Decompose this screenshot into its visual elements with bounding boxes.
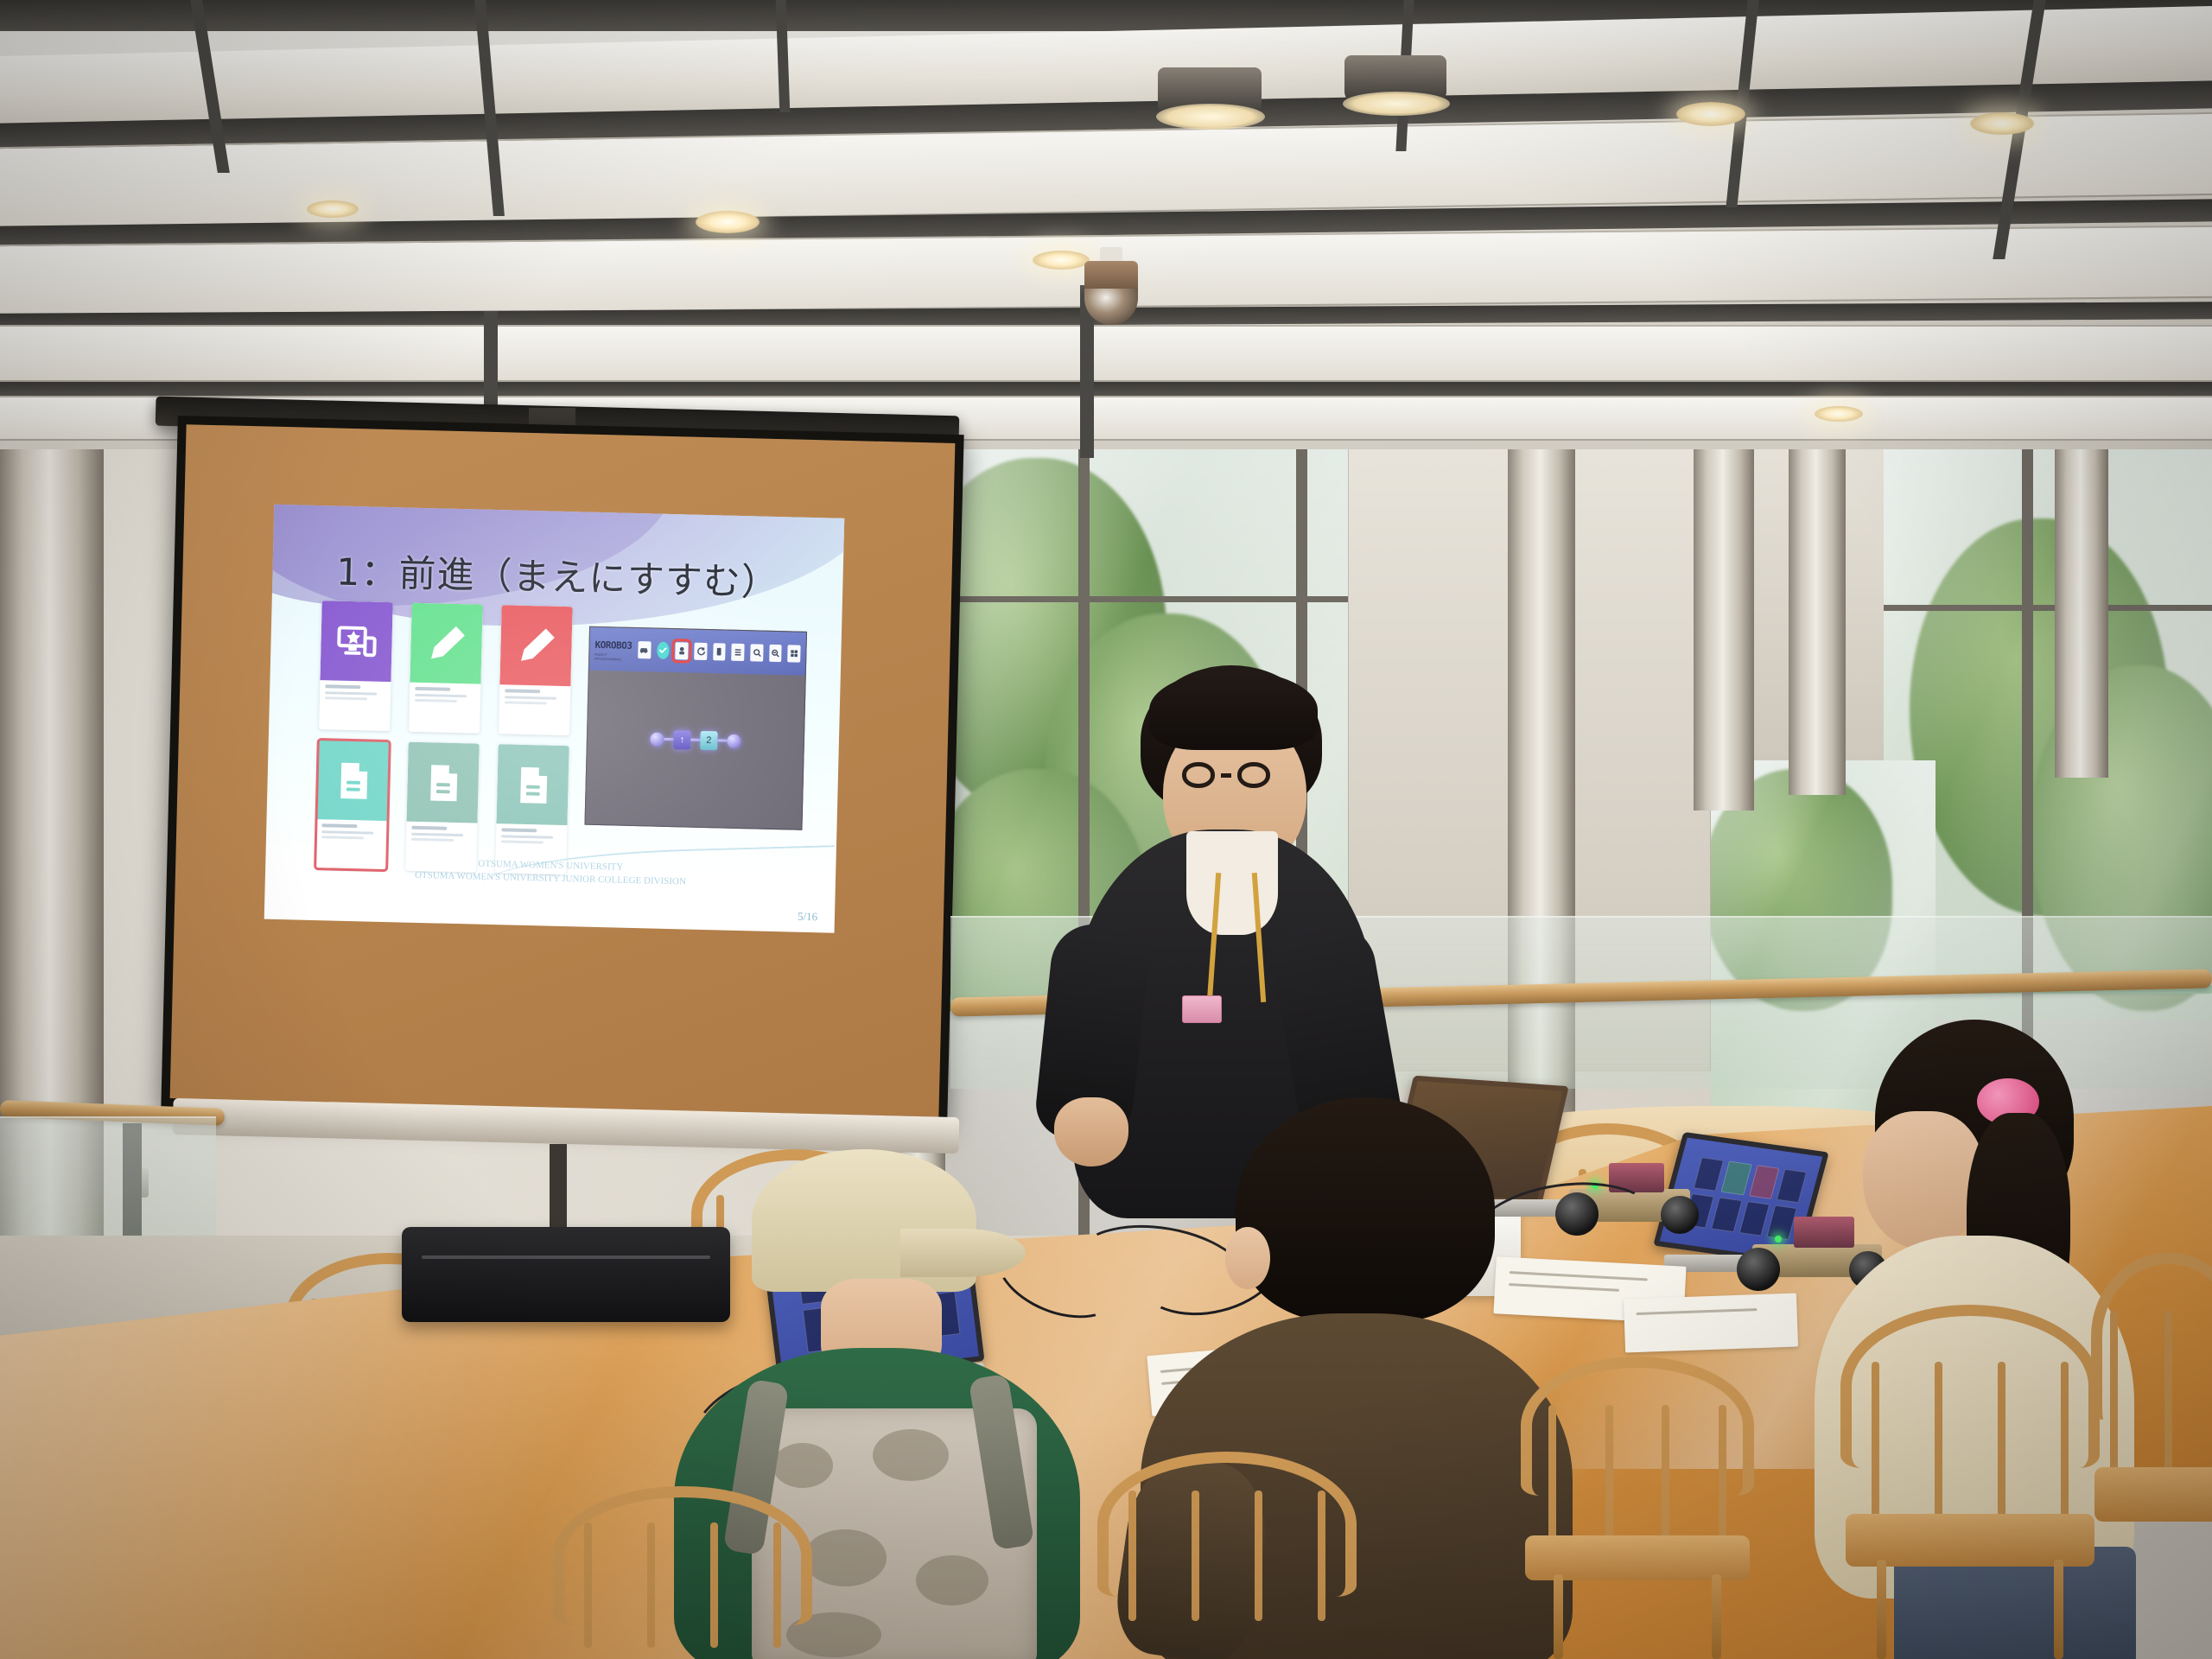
- program-flow-diagram[interactable]: ↑ 2: [650, 729, 741, 751]
- grid-icon[interactable]: [788, 645, 801, 662]
- document-icon: [510, 760, 555, 810]
- downlight: [1815, 406, 1863, 422]
- cap-brim: [900, 1229, 1027, 1277]
- window-mullion: [1884, 605, 2212, 611]
- chair-leg: [1554, 1574, 1563, 1659]
- app-card-thumb: [320, 601, 392, 682]
- app-card-thumb: [317, 740, 390, 821]
- flow-end-node: [727, 734, 741, 747]
- car-icon[interactable]: [638, 641, 651, 658]
- projection-screen-frame: 1：前進（まえにすすむ）: [161, 416, 963, 1126]
- flow-link: [717, 740, 727, 742]
- downlight: [1970, 112, 2034, 135]
- student-hair: [1236, 1097, 1495, 1322]
- dome-security-camera: [1084, 247, 1138, 330]
- chair-leg: [2054, 1560, 2063, 1659]
- beige-cap: [752, 1149, 976, 1292]
- worksheet-paper[interactable]: [1624, 1294, 1798, 1353]
- app-card-meta: [409, 683, 480, 734]
- document-icon: [331, 755, 376, 805]
- search-icon[interactable]: [750, 644, 763, 661]
- korobo3-app-window: KOROBO3 ROBOT PROGRAMMING: [584, 626, 807, 830]
- downlight: [1033, 251, 1090, 270]
- chair-front-center[interactable]: [1097, 1452, 1357, 1659]
- flow-link: [690, 739, 700, 741]
- instructor-hair-fringe: [1149, 671, 1318, 750]
- app-card[interactable]: [409, 603, 483, 734]
- app-card-thumb: [499, 605, 572, 686]
- app-card-meta: [319, 680, 391, 731]
- app-card-selected[interactable]: [315, 740, 390, 870]
- app-card[interactable]: [319, 601, 393, 731]
- app-card-thumb: [410, 603, 482, 684]
- chair-spindles: [1872, 1362, 2069, 1525]
- document-icon: [421, 758, 466, 808]
- chair-spindles: [1128, 1491, 1325, 1621]
- chair-leg: [1877, 1560, 1886, 1659]
- ceiling-beam: [0, 382, 2212, 396]
- device-icon[interactable]: [713, 643, 726, 660]
- student-ear: [1225, 1227, 1270, 1289]
- chair-front-right[interactable]: [1521, 1357, 1754, 1659]
- downlight: [696, 211, 760, 233]
- downlight: [307, 200, 359, 218]
- robot-icon[interactable]: [675, 642, 688, 659]
- zoom-icon[interactable]: [769, 645, 782, 662]
- list-icon[interactable]: [731, 644, 744, 661]
- reload-icon[interactable]: [694, 643, 707, 660]
- app-card-meta: [499, 685, 570, 736]
- glasses-icon: [1182, 762, 1270, 788]
- app-card-thumb: [407, 742, 480, 823]
- app-card[interactable]: [495, 744, 569, 874]
- monitor-star-icon: [334, 616, 378, 666]
- ceiling-panel: [0, 325, 2212, 382]
- pencil-icon: [513, 620, 558, 671]
- chair-seat: [2094, 1467, 2212, 1522]
- chair-spindles: [2110, 1311, 2212, 1478]
- instructor-collar: [1186, 831, 1278, 935]
- pencil-icon: [423, 619, 468, 669]
- workshop-photo: 1：前進（まえにすすむ）: [0, 0, 2212, 1659]
- chair-leg: [1712, 1574, 1721, 1659]
- downlight: [1676, 102, 1745, 126]
- korobo3-titlebar: KOROBO3 ROBOT PROGRAMMING: [589, 627, 806, 676]
- flow-wait-node: 2: [700, 731, 718, 750]
- chair-front-left[interactable]: [553, 1486, 812, 1659]
- track-light-glow: [1343, 92, 1450, 116]
- app-card[interactable]: [405, 742, 480, 873]
- student-face: [1863, 1111, 1984, 1249]
- korobo3-brand: KOROBO3 ROBOT PROGRAMMING: [594, 637, 632, 662]
- app-card-thumb: [496, 744, 569, 825]
- app-card[interactable]: [499, 605, 573, 735]
- flow-link: [664, 738, 673, 741]
- window-mullion: [942, 596, 1348, 602]
- id-badge: [1182, 995, 1222, 1023]
- check-icon[interactable]: [657, 642, 670, 659]
- projected-slide: 1：前進（まえにすすむ）: [264, 505, 845, 933]
- flow-start-node: [650, 732, 664, 746]
- slide-page-number: 5/16: [798, 910, 818, 925]
- chair-spindles: [1548, 1405, 1726, 1544]
- chair-far-right[interactable]: [2091, 1253, 2212, 1616]
- track-light-glow: [1156, 104, 1265, 130]
- slide-app-card-grid: [315, 601, 572, 874]
- flow-action-forward: ↑: [673, 730, 691, 749]
- chair-right-side[interactable]: [1840, 1305, 2100, 1659]
- chair-seat: [1846, 1514, 2094, 1567]
- chair-spindles: [584, 1522, 781, 1649]
